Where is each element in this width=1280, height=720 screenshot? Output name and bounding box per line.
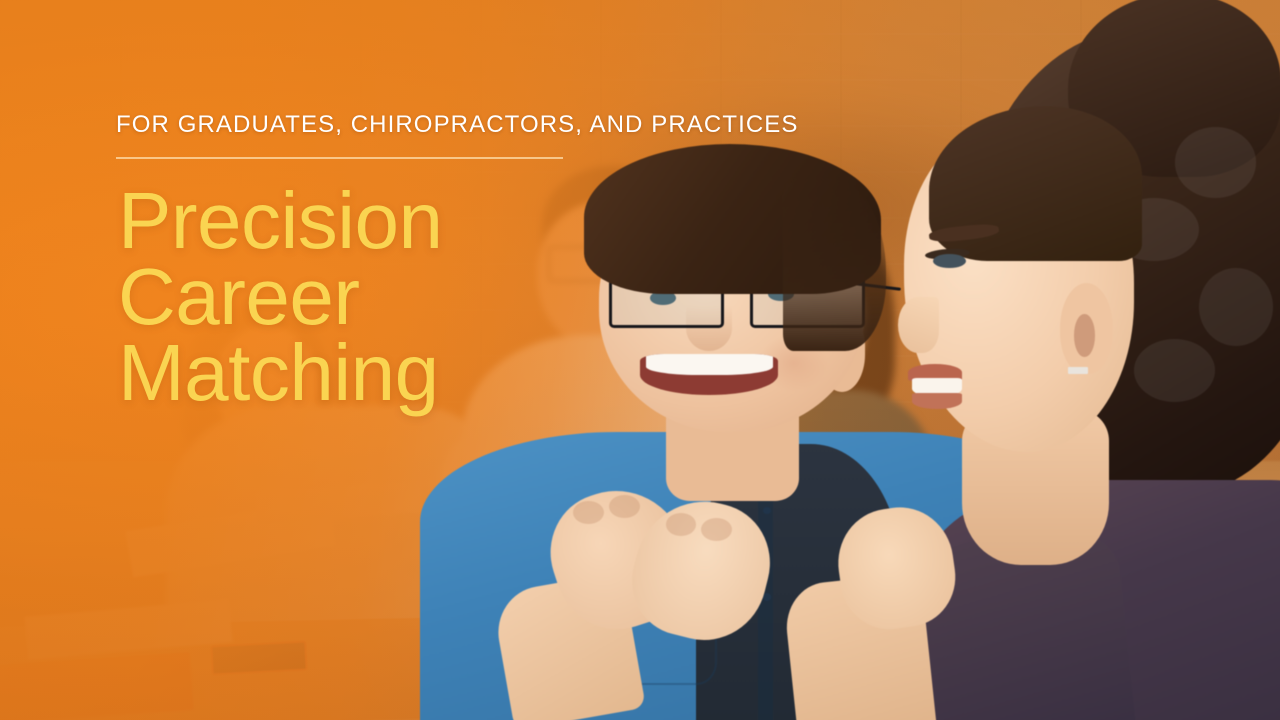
eyebrow-text: FOR GRADUATES, CHIROPRACTORS, AND PRACTI…	[116, 112, 799, 138]
hero-banner: FOR GRADUATES, CHIROPRACTORS, AND PRACTI…	[0, 0, 1280, 720]
page-title: Precision Career Matching	[118, 183, 443, 411]
hero-copy: FOR GRADUATES, CHIROPRACTORS, AND PRACTI…	[0, 0, 1280, 720]
headline-line-1: Precision	[118, 183, 443, 259]
headline-line-3: Matching	[118, 335, 443, 411]
headline-line-2: Career	[118, 259, 443, 335]
divider-rule	[116, 157, 563, 159]
